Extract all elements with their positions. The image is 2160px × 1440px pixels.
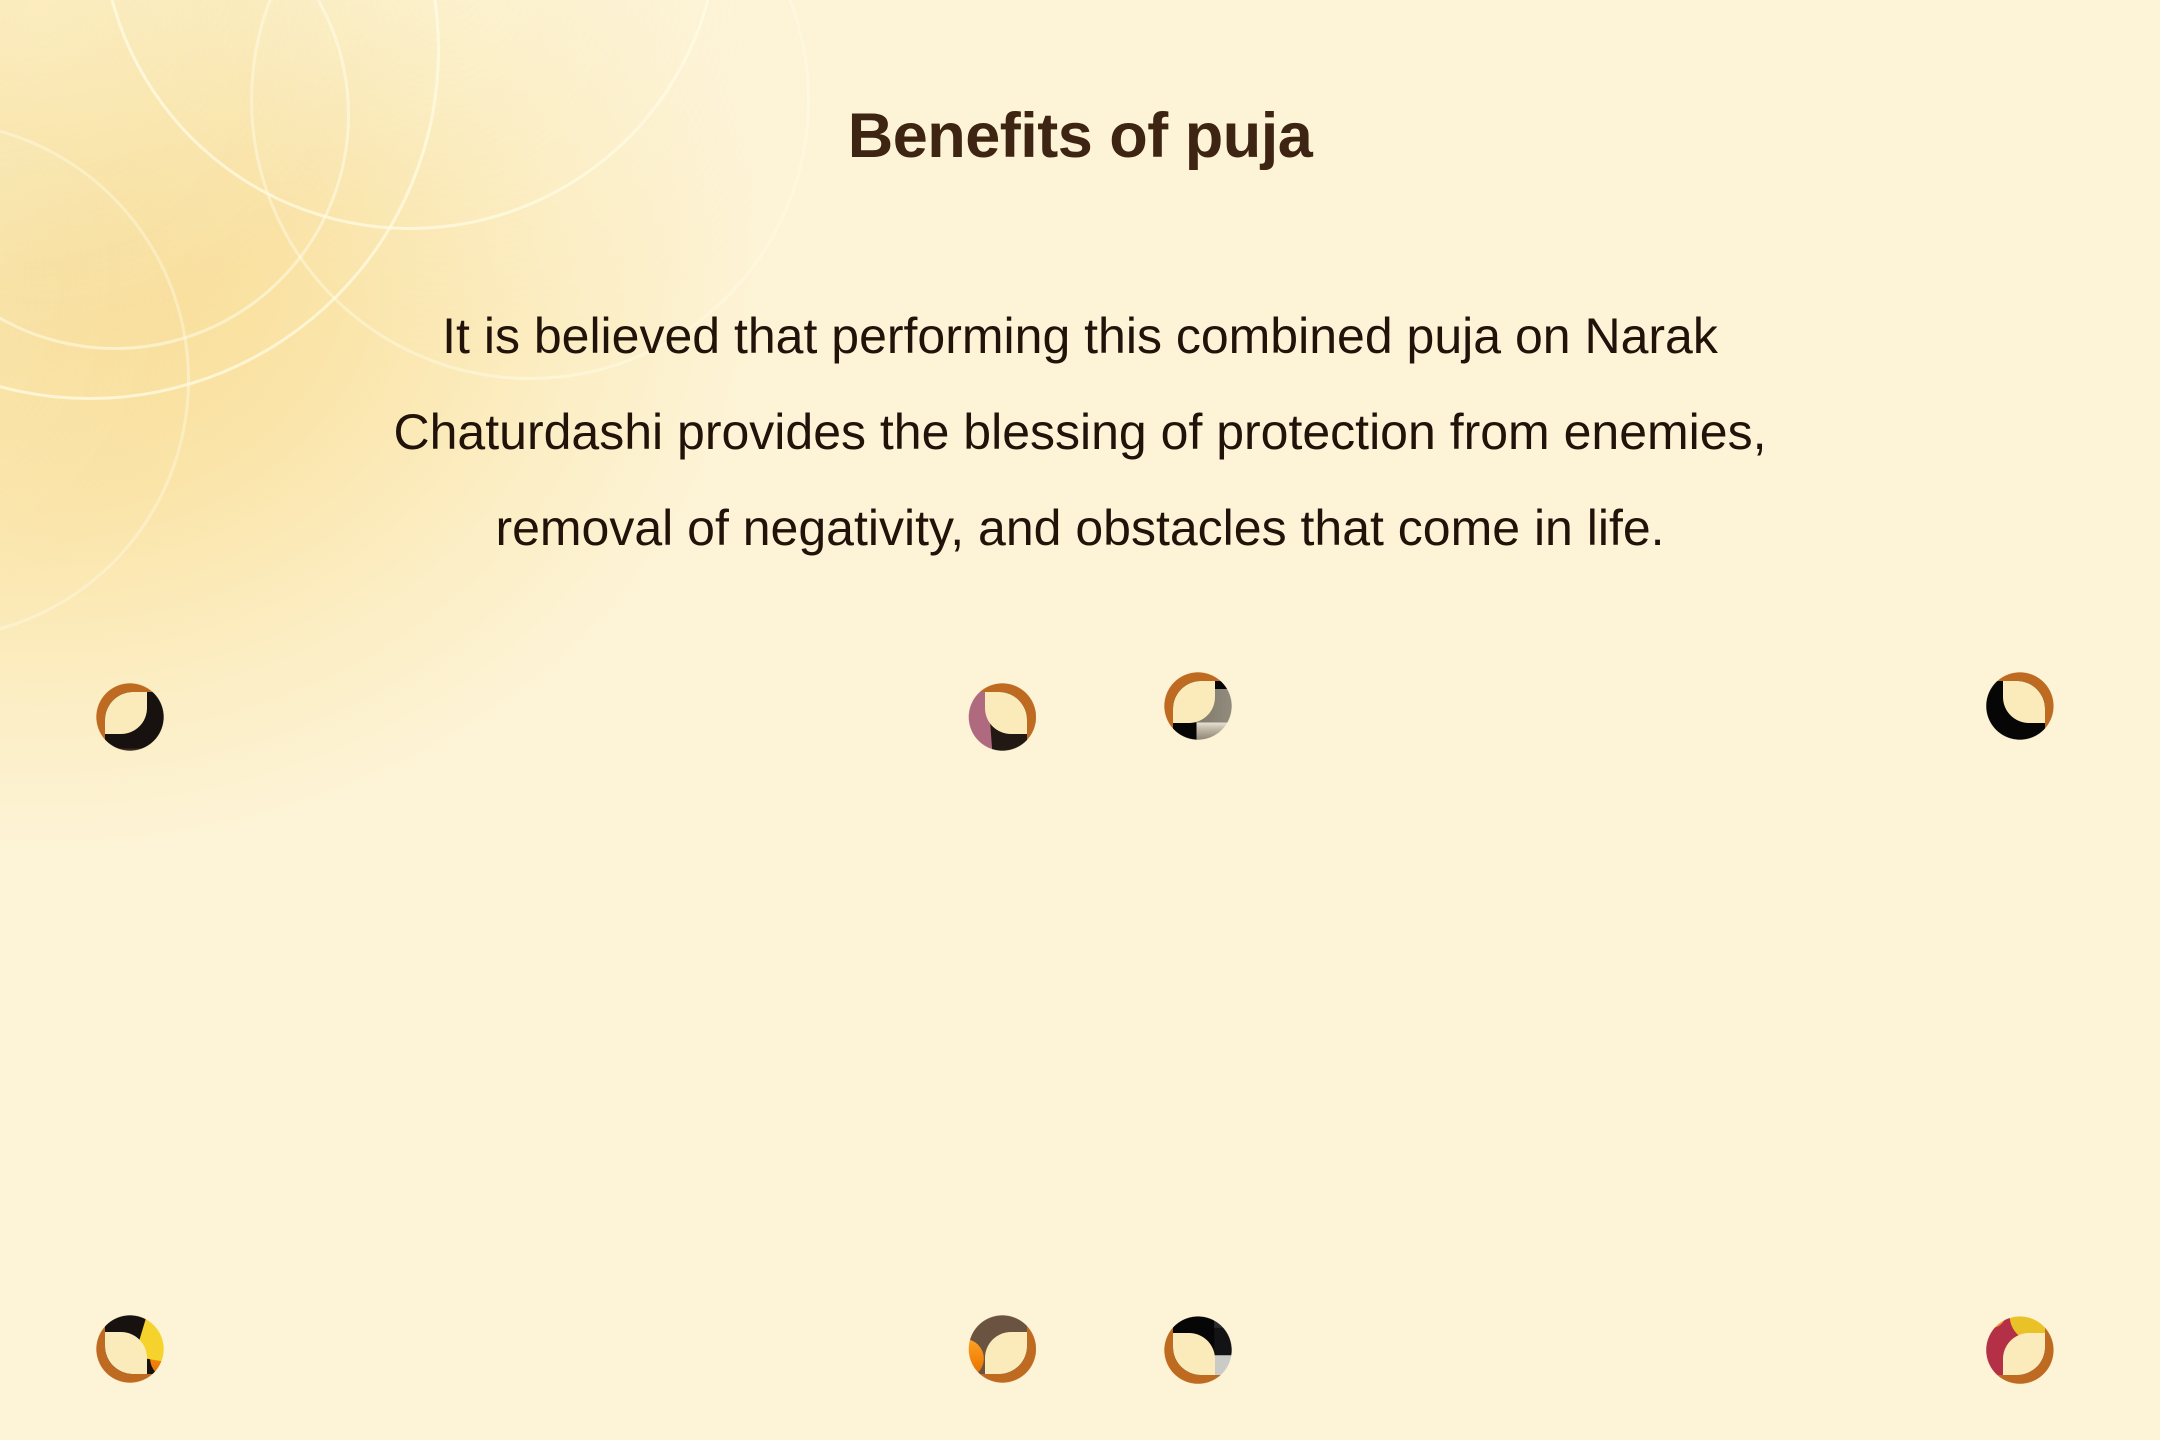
hanuman-shringar-illustration [105, 692, 1027, 1374]
silver-shrine-illustration [1173, 681, 2045, 1375]
body-line: Chaturdashi provides the blessing of pro… [100, 384, 2060, 480]
silver-shrine-photo[interactable] [1164, 672, 2054, 1384]
hanuman-shringar-photo-clip [105, 692, 1027, 1374]
body-line: It is believed that performing this comb… [100, 288, 2060, 384]
body-line: removal of negativity, and obstacles tha… [100, 480, 2060, 576]
content-area: Benefits of puja It is believed that per… [0, 0, 2160, 1440]
page-title: Benefits of puja [0, 100, 2160, 172]
body-paragraph: It is believed that performing this comb… [100, 288, 2060, 576]
silver-shrine-photo-clip [1173, 681, 2045, 1375]
hanuman-shringar-photo[interactable] [96, 683, 1036, 1383]
